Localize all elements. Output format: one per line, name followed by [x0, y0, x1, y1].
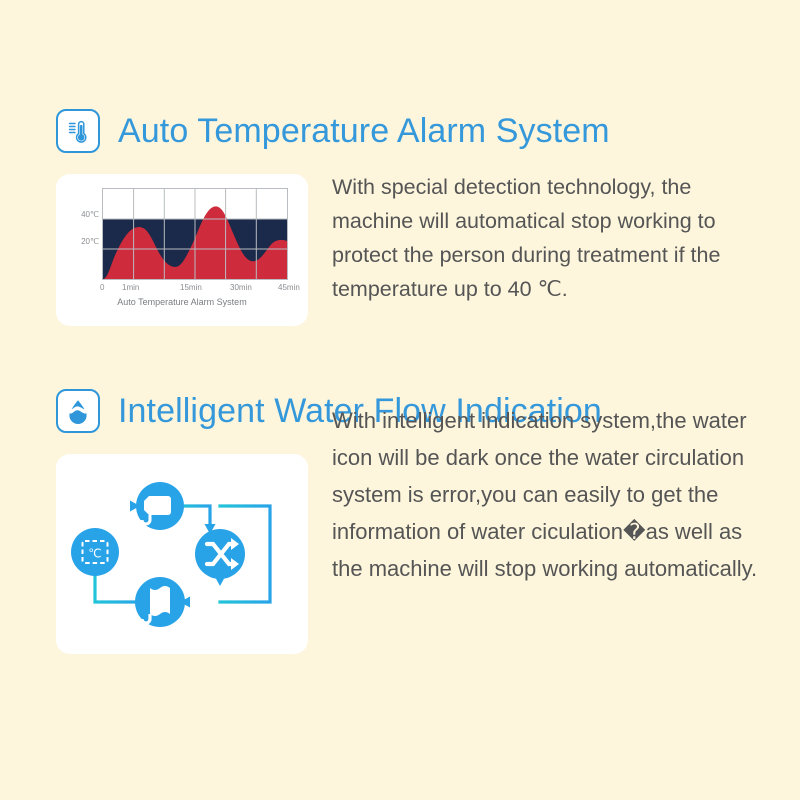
- x-tick-30min: 30min: [230, 283, 252, 292]
- x-tick-1min: 1min: [122, 283, 139, 292]
- paragraph-waterflow: With intelligent indication system,the w…: [332, 402, 772, 587]
- heading-row-temperature: Auto Temperature Alarm System: [0, 100, 800, 162]
- node-temperature-sensor: ℃: [71, 528, 119, 576]
- chart-x-axis: 0 1min 15min 30min 45min: [98, 283, 296, 297]
- body-row-temperature: 40℃ 20℃: [0, 174, 800, 326]
- thermometer-icon: [56, 109, 100, 153]
- paragraph-temperature: With special detection technology, the m…: [332, 170, 772, 306]
- water-circulation-diagram: ℃: [64, 462, 300, 646]
- section-auto-temperature-alarm: Auto Temperature Alarm System 40℃ 20℃: [0, 100, 800, 326]
- y-tick-20: 20℃: [81, 237, 99, 246]
- chart-caption: Auto Temperature Alarm System: [66, 297, 298, 307]
- node-shuffle: [195, 529, 245, 579]
- chart-plot-area: [102, 188, 288, 280]
- chart-y-axis: 40℃ 20℃: [66, 184, 102, 280]
- x-tick-15min: 15min: [180, 283, 202, 292]
- node-device-bottom: [135, 577, 185, 627]
- y-tick-40: 40℃: [81, 210, 99, 219]
- x-tick-0: 0: [100, 283, 104, 292]
- section-title-temperature: Auto Temperature Alarm System: [118, 112, 610, 151]
- x-tick-45min: 45min: [278, 283, 300, 292]
- node-handpiece-top: [136, 482, 184, 530]
- page-root: Auto Temperature Alarm System 40℃ 20℃: [0, 0, 800, 800]
- svg-text:℃: ℃: [88, 547, 101, 561]
- water-circulation-card: ℃: [56, 454, 308, 654]
- temperature-chart-card: 40℃ 20℃: [56, 174, 308, 326]
- water-drop-icon: [56, 389, 100, 433]
- temperature-chart: 40℃ 20℃: [66, 184, 298, 302]
- body-row-waterflow: ℃: [0, 454, 800, 654]
- section-intelligent-water-flow: Intelligent Water Flow Indication: [0, 380, 800, 654]
